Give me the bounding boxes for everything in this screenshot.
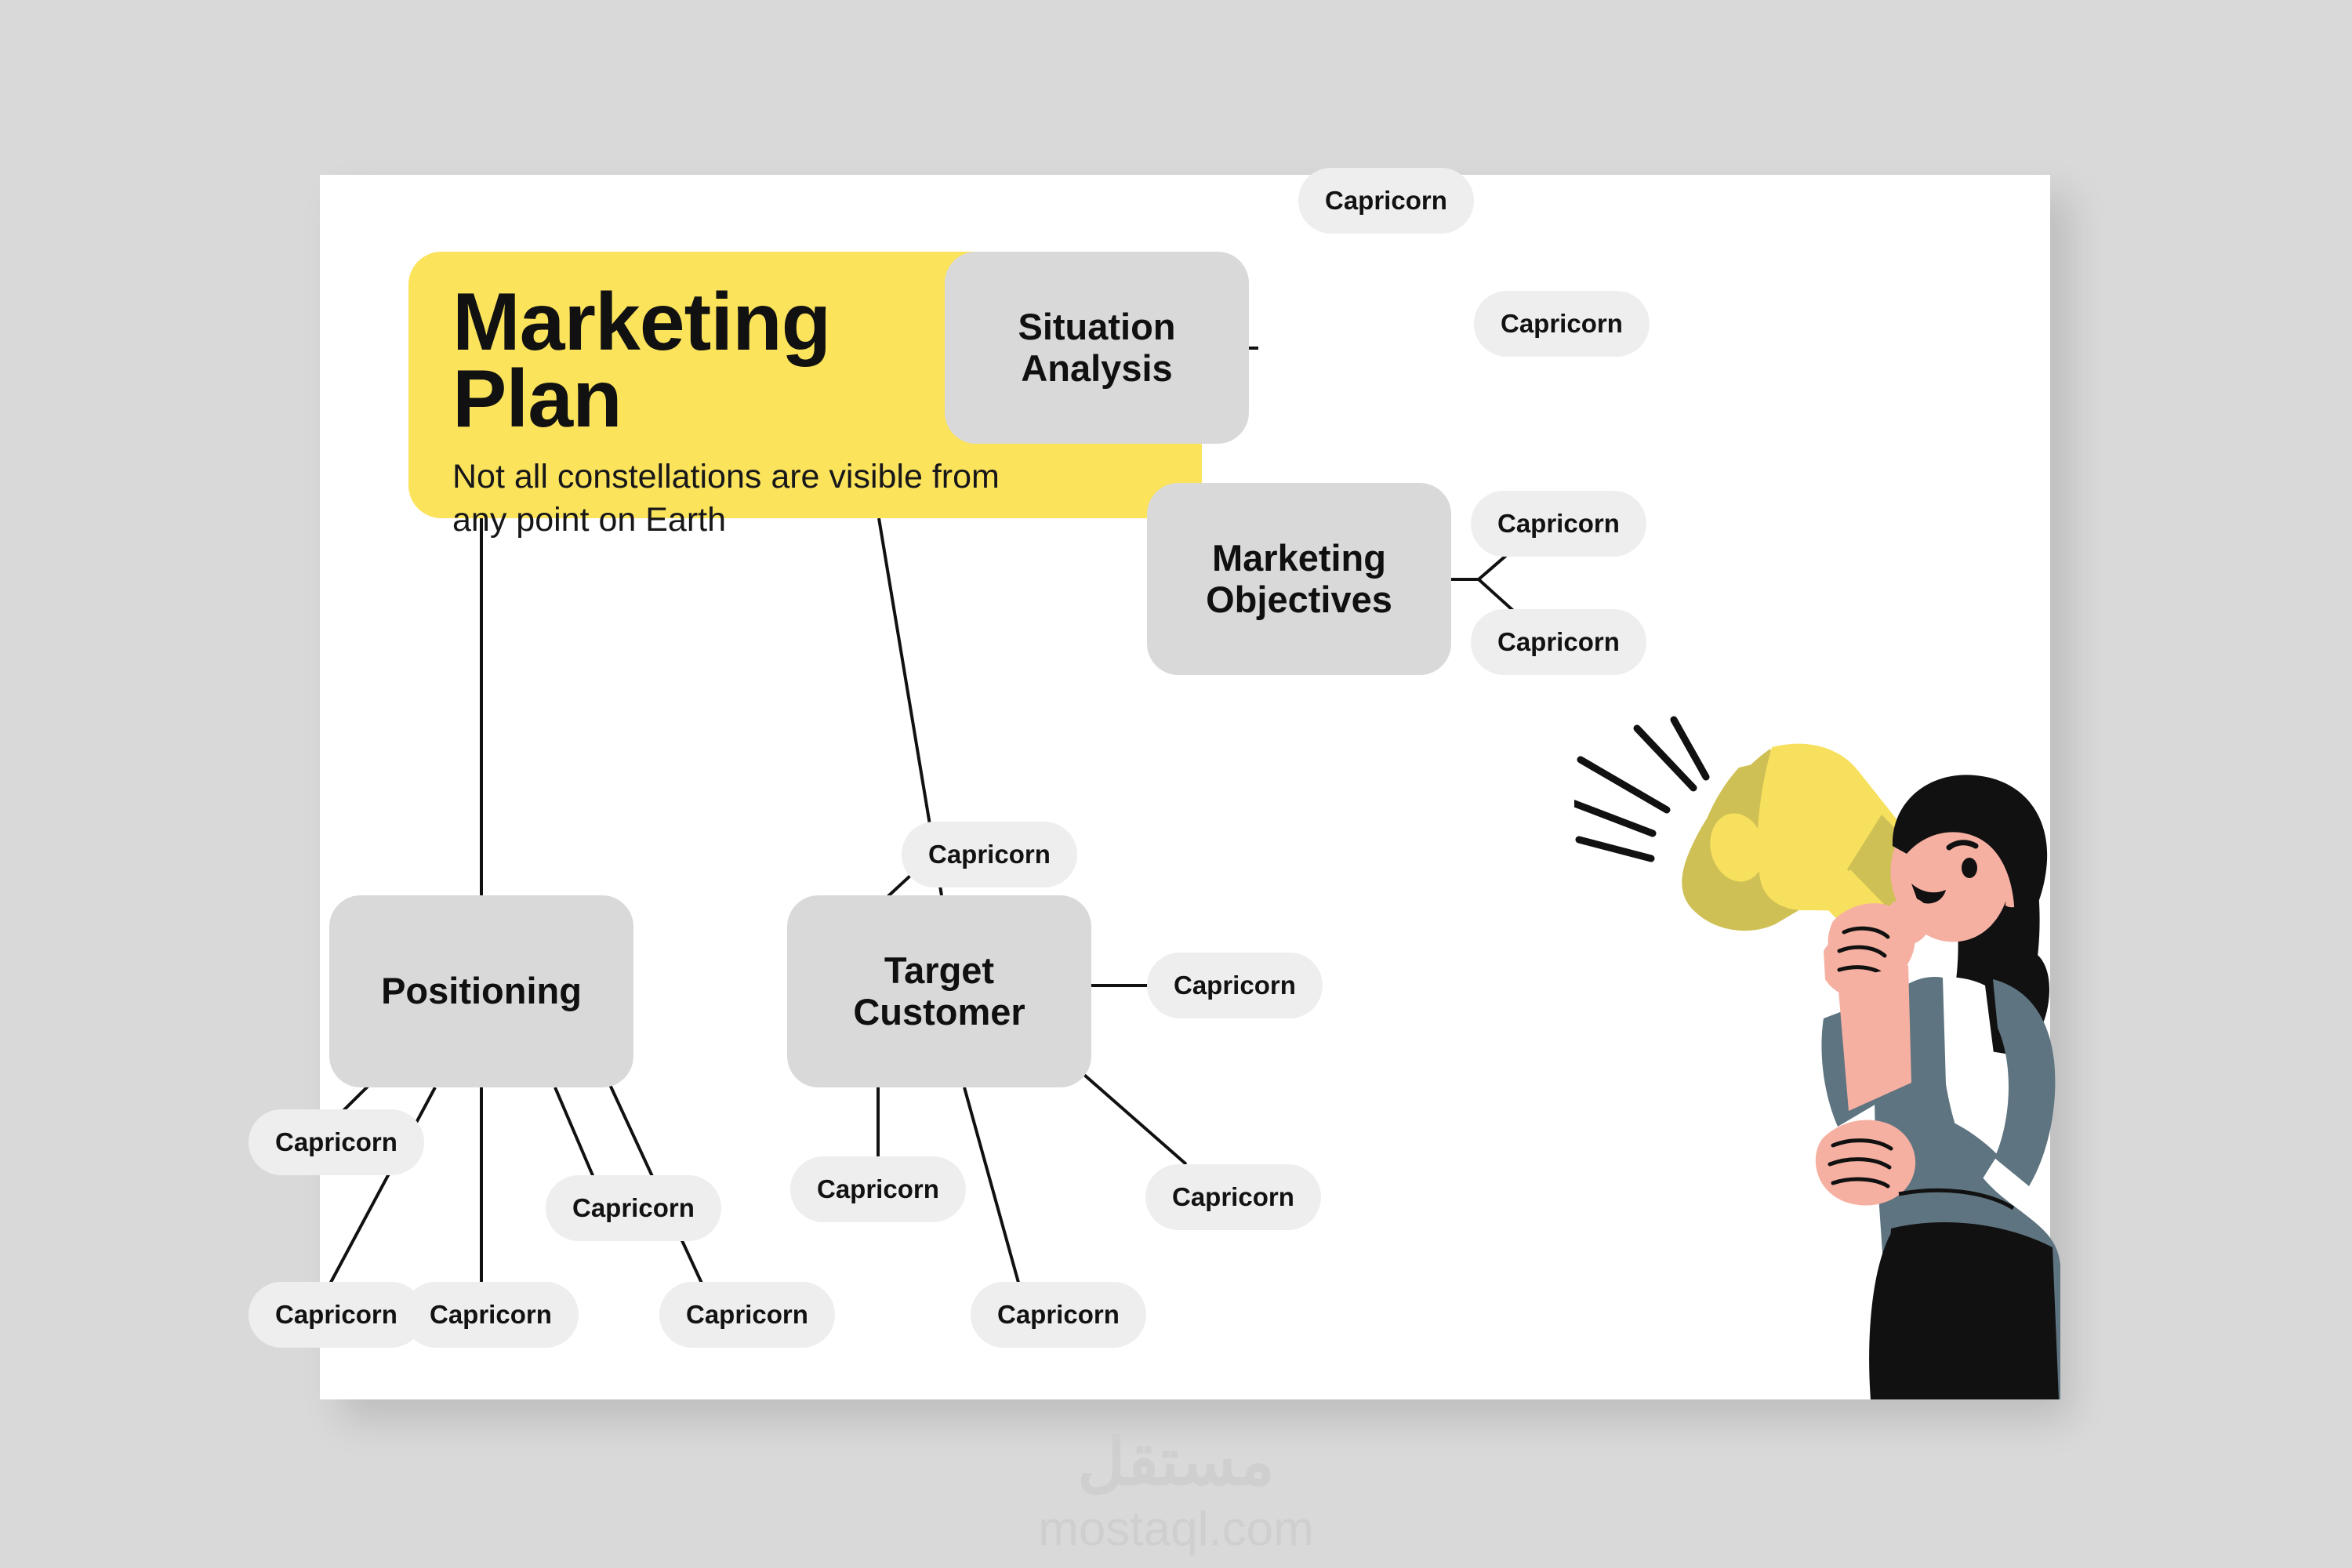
- megaphone-sound-lines: [1574, 720, 1706, 858]
- watermark-arabic: مستقل: [0, 1428, 2352, 1494]
- wire-tgt-leaf5: [1084, 1075, 1186, 1164]
- leaf-objectives-3[interactable]: Capricorn: [1471, 491, 1646, 557]
- leaf-positioning-2[interactable]: Capricorn: [249, 1282, 424, 1348]
- node-situation-analysis[interactable]: Situation Analysis: [945, 252, 1249, 444]
- watermark: مستقل mostaql.com: [0, 1428, 2352, 1560]
- woman-with-megaphone-illustration: [1574, 716, 2060, 1399]
- hero-subtitle: Not all constellations are visible from …: [452, 456, 1017, 542]
- wire-tgt-leaf4: [964, 1087, 1020, 1288]
- leaf-target-3[interactable]: Capricorn: [790, 1156, 966, 1222]
- mindmap-canvas: Marketing Plan Not all constellations ar…: [320, 175, 2050, 1399]
- leaf-objectives-1[interactable]: Capricorn: [1298, 168, 1474, 234]
- eye: [1962, 858, 1977, 878]
- leaf-positioning-1[interactable]: Capricorn: [249, 1109, 424, 1175]
- leaf-objectives-2[interactable]: Capricorn: [1474, 291, 1650, 357]
- leaf-positioning-4[interactable]: Capricorn: [546, 1175, 721, 1241]
- pants: [1880, 1222, 2059, 1399]
- leaf-objectives-4[interactable]: Capricorn: [1471, 609, 1646, 675]
- leaf-target-2[interactable]: Capricorn: [1147, 953, 1323, 1018]
- wire-pos-leaf4: [555, 1087, 597, 1185]
- node-marketing-objectives[interactable]: Marketing Objectives: [1147, 483, 1451, 675]
- leaf-positioning-5[interactable]: Capricorn: [659, 1282, 835, 1348]
- leaf-target-5[interactable]: Capricorn: [971, 1282, 1146, 1348]
- leaf-target-4[interactable]: Capricorn: [1145, 1164, 1321, 1230]
- watermark-url: mostaql.com: [0, 1499, 2352, 1560]
- node-target-customer[interactable]: Target Customer: [787, 895, 1091, 1087]
- leaf-target-1[interactable]: Capricorn: [902, 822, 1077, 887]
- node-positioning[interactable]: Positioning: [329, 895, 633, 1087]
- leaf-positioning-3[interactable]: Capricorn: [403, 1282, 579, 1348]
